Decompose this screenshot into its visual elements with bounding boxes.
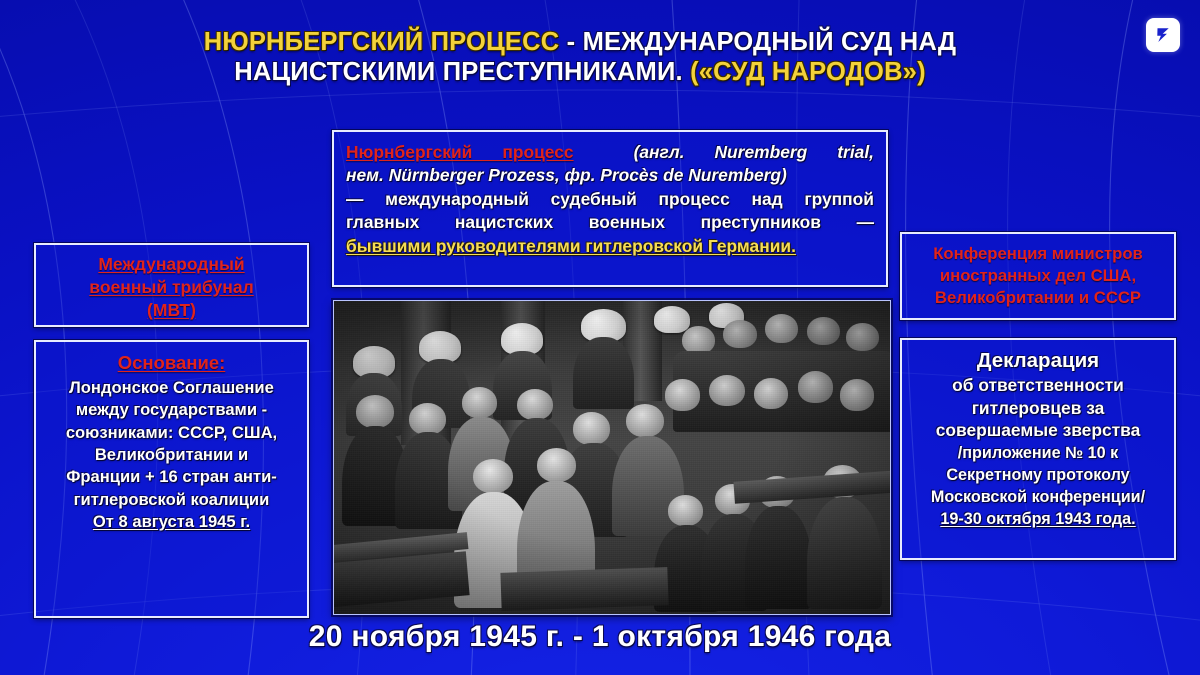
conference-line-2: иностранных дел США, [910, 265, 1166, 287]
tribunal-line-2: военный трибунал [42, 276, 301, 299]
nuremberg-dock-photo [333, 300, 891, 615]
basis-line-7: От 8 августа 1945 г. [44, 511, 299, 533]
definition-foreign-1: (англ. Nuremberg trial, [634, 142, 874, 162]
page-title: НЮРНБЕРГСКИЙ ПРОЦЕСС - МЕЖДУНАРОДНЫЙ СУД… [60, 28, 1100, 87]
conference-line-1: Конференция министров [910, 243, 1166, 265]
title-part-white-1: - МЕЖДУНАРОДНЫЙ СУД НАД [559, 28, 956, 56]
title-part-gold-2: («СУД НАРОДОВ») [690, 58, 926, 86]
conference-line-3: Великобритании и СССР [910, 287, 1166, 309]
slide-root: НЮРНБЕРГСКИЙ ПРОЦЕСС - МЕЖДУНАРОДНЫЙ СУД… [0, 0, 1200, 675]
basis-line-2: между государствами - [44, 399, 299, 421]
z-lightning-icon [1151, 23, 1175, 47]
definition-foreign-2: нем. Nürnberger Prozess, фр. Procès de N… [346, 165, 787, 185]
declaration-line-4: совершаемые зверства [909, 419, 1167, 442]
tribunal-line-3: (МВТ) [42, 299, 301, 322]
conference-box: Конференция министров иностранных дел СШ… [900, 232, 1176, 320]
title-part-gold-1: НЮРНБЕРГСКИЙ ПРОЦЕСС [204, 28, 560, 56]
declaration-line-3: гитлеровцев за [909, 397, 1167, 420]
definition-line-4: главных нацистских военных преступников … [346, 211, 874, 234]
photo-canvas [334, 301, 890, 614]
declaration-box: Декларация об ответственности гитлеровце… [900, 338, 1176, 560]
definition-line-1: Нюрнбергский процесс (англ. Nuremberg tr… [346, 141, 874, 164]
declaration-line-1: Декларация [909, 348, 1167, 374]
z-lightning-logo [1146, 18, 1180, 52]
definition-body-2: главных нацистских военных преступников … [346, 212, 874, 232]
title-part-white-2: НАЦИСТСКИМИ ПРЕСТУПНИКАМИ. [234, 58, 690, 86]
definition-box: Нюрнбергский процесс (англ. Nuremberg tr… [332, 130, 888, 287]
basis-line-5: Франции + 16 стран анти- [44, 466, 299, 488]
basis-line-3: союзниками: СССР, США, [44, 422, 299, 444]
title-line-2: НАЦИСТСКИМИ ПРЕСТУПНИКАМИ. («СУД НАРОДОВ… [60, 58, 1100, 88]
title-line-1: НЮРНБЕРГСКИЙ ПРОЦЕСС - МЕЖДУНАРОДНЫЙ СУД… [60, 28, 1100, 58]
declaration-line-6: Секретному протоколу [909, 465, 1167, 486]
basis-heading: Основание: [44, 351, 299, 375]
definition-line-3: — международный судебный процесс над гру… [346, 188, 874, 211]
tribunal-box: Международный военный трибунал (МВТ) [34, 243, 309, 327]
declaration-line-7: Московской конференции/ [909, 487, 1167, 508]
basis-line-6: гитлеровской коалиции [44, 489, 299, 511]
basis-line-1: Лондонское Соглашение [44, 377, 299, 399]
basis-line-4: Великобритании и [44, 444, 299, 466]
declaration-line-5: /приложение № 10 к [909, 443, 1167, 464]
tribunal-line-1: Международный [42, 253, 301, 276]
declaration-line-8: 19-30 октября 1943 года. [909, 509, 1167, 530]
definition-body-3: бывшими руководителями гитлеровской Герм… [346, 236, 796, 256]
definition-line-2: нем. Nürnberger Prozess, фр. Procès de N… [346, 164, 874, 187]
definition-term: Нюрнбергский процесс [346, 142, 574, 162]
definition-body-1: — международный судебный процесс над гру… [346, 189, 874, 209]
basis-box: Основание: Лондонское Соглашение между г… [34, 340, 309, 618]
declaration-line-2: об ответственности [909, 374, 1167, 397]
definition-line-5: бывшими руководителями гитлеровской Герм… [346, 235, 874, 258]
date-caption: 20 ноября 1945 г. - 1 октября 1946 года [0, 620, 1200, 654]
basis-body: Лондонское Соглашение между государствам… [44, 377, 299, 533]
